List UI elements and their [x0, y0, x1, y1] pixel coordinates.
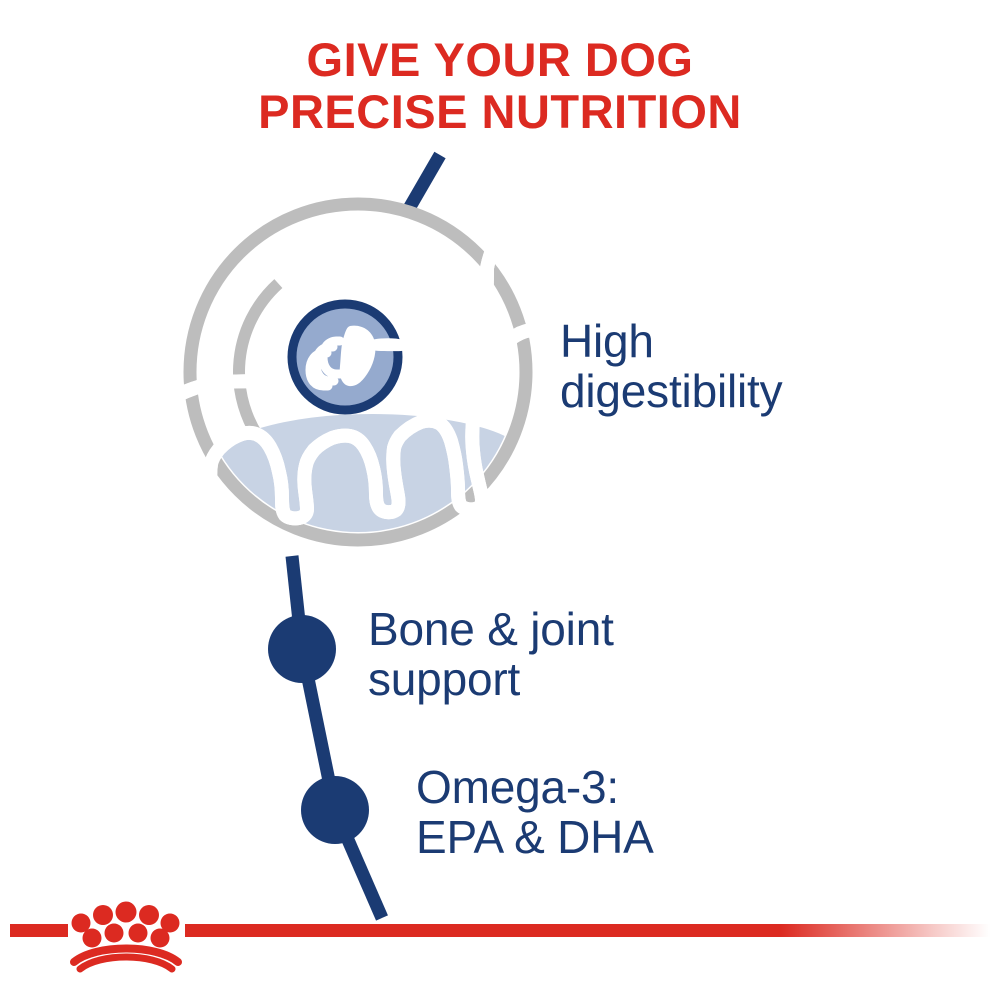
feature-bone-line-1: Bone & joint: [368, 604, 614, 654]
feature-high-line-2: digestibility: [560, 366, 782, 416]
page-title: GIVE YOUR DOG PRECISE NUTRITION: [0, 34, 1000, 138]
footer-brand-bar: [0, 890, 1000, 1000]
feature-label-omega-3: Omega-3: EPA & DHA: [416, 762, 654, 862]
connector-node-omega3: [301, 776, 369, 844]
headline-line-1: GIVE YOUR DOG: [0, 34, 1000, 86]
feature-label-high-digestibility: High digestibility: [560, 316, 782, 416]
ground-shadow: [190, 414, 530, 540]
footer-rule-right: [185, 924, 990, 937]
feature-bone-line-2: support: [368, 654, 614, 704]
connector-line-headline: [407, 155, 440, 212]
connector-segment-1: [292, 556, 302, 649]
feature-omega-line-2: EPA & DHA: [416, 812, 654, 862]
digestive-tract-icon: [292, 304, 412, 410]
feature-label-bone-joint-support: Bone & joint support: [368, 604, 614, 704]
royal-canin-crown-logo: [72, 902, 180, 970]
feature-high-line-1: High: [560, 316, 782, 366]
connector-chain: [268, 556, 382, 918]
outer-ring: [190, 204, 526, 540]
promo-graphic-canvas: GIVE YOUR DOG PRECISE NUTRITION: [0, 0, 1000, 1000]
footer-rule-left: [10, 924, 68, 937]
dog-silhouette: [131, 237, 591, 523]
connector-node-bone-joint: [268, 615, 336, 683]
connector-segment-2: [302, 649, 335, 810]
inner-ring: [190, 284, 438, 540]
headline-line-2: PRECISE NUTRITION: [0, 86, 1000, 138]
feature-omega-line-1: Omega-3:: [416, 762, 654, 812]
